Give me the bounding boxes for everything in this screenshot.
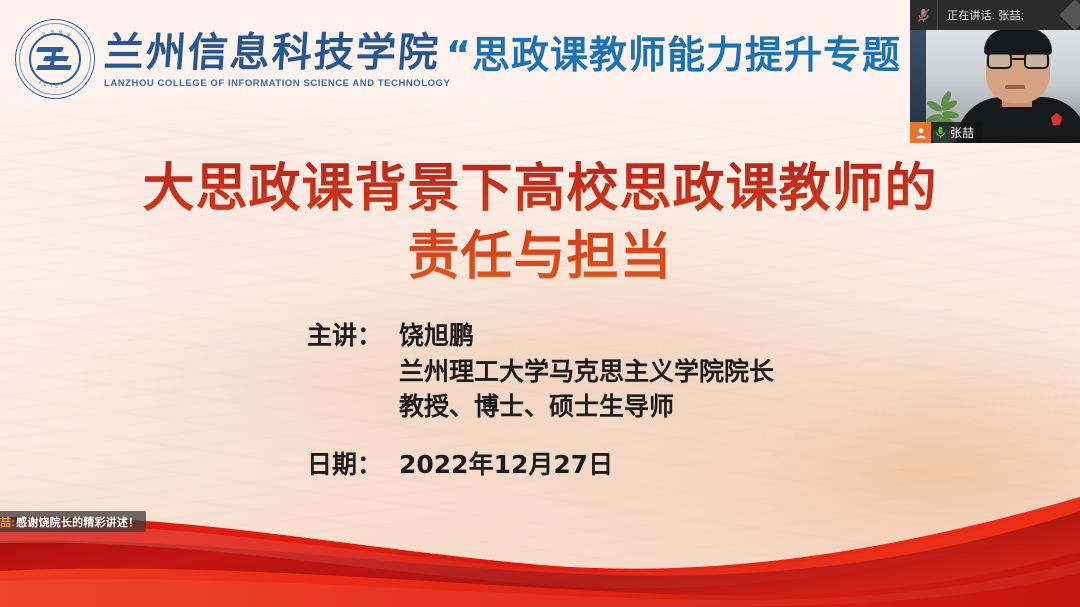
speaker-affiliation: 兰州理工大学马克思主义学院院长 [399,354,774,390]
live-chat-message: 喆: 感谢饶院长的精彩讲述！ [0,511,146,532]
chat-sender: 喆: [0,514,15,530]
date-label: 日期： [307,447,399,483]
speaker-details: 饶旭鹏 兰州理工大学马克思主义学院院长 教授、博士、硕士生导师 [399,318,774,425]
microphone-icon[interactable] [931,122,949,143]
eyeglasses-icon [987,52,1049,69]
slide-main-title-line1: 大思政课背景下高校思政课教师的 [142,159,937,219]
slide-main-title-line2: 责任与担当 [0,224,1080,292]
institution-logo-block: 兰 州 信 息 L C I S T 兰州信息科技学院 LANZHOU COLLE… [14,18,450,100]
institution-name-cn: 兰州信息科技学院 [102,31,451,74]
speaker-row: 主讲： 饶旭鹏 兰州理工大学马克思主义学院院长 教授、博士、硕士生导师 [307,318,774,425]
slide-header-title: “思政课教师能力提升专题 [446,36,901,74]
live-stream-stage: 兰 州 信 息 L C I S T 兰州信息科技学院 LANZHOU COLLE… [0,0,1080,607]
red-ribbon-graphic [0,489,1080,607]
slide-red-ribbon [0,489,1080,607]
speaking-status-bar: 正在讲话: 张喆; [910,0,1080,30]
participant-name: 张喆 [949,124,982,141]
institution-name-block: 兰州信息科技学院 LANZHOU COLLEGE OF INFORMATION … [104,29,450,88]
slide-main-title: 大思政课背景下高校思政课教师的 责任与担当 [0,156,1080,291]
speaker-label: 主讲： [307,318,399,425]
university-seal-icon: 兰 州 信 息 L C I S T [14,18,96,100]
speaker-video-panel[interactable]: 正在讲话: 张喆; [910,0,1080,143]
video-feed[interactable]: 张喆 [910,30,1080,143]
institution-name-en: LANZHOU COLLEGE OF INFORMATION SCIENCE A… [104,78,450,89]
participant-name-tag: 张喆 [910,122,982,143]
date-value: 2022年12月27日 [399,447,613,483]
speaker-titles: 教授、博士、硕士生导师 [399,389,774,425]
pin-corner-icon[interactable] [1059,0,1080,30]
chat-text: 感谢饶院长的精彩讲述！ [16,514,139,530]
date-row: 日期： 2022年12月27日 [307,447,774,483]
speaking-status-text: 正在讲话: 张喆; [938,7,1024,23]
microphone-muted-icon[interactable] [910,0,938,30]
speaker-name: 饶旭鹏 [399,318,774,354]
slide-speaker-info: 主讲： 饶旭鹏 兰州理工大学马克思主义学院院长 教授、博士、硕士生导师 日期： … [307,318,774,482]
user-avatar-icon [910,122,931,143]
